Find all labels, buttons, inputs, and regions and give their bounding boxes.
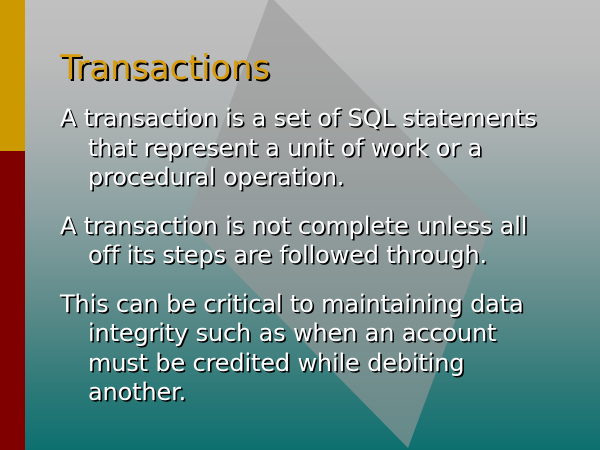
body-paragraph: A transaction is not complete unless all…: [60, 212, 550, 271]
slide-canvas: Transactions A transaction is a set of S…: [0, 0, 600, 450]
left-accent-bar-gold: [0, 0, 25, 151]
left-accent-bar-red: [0, 151, 25, 450]
slide-content: Transactions A transaction is a set of S…: [60, 0, 560, 450]
body-paragraph: A transaction is a set of SQL statements…: [60, 104, 550, 193]
body-paragraph: This can be critical to maintaining data…: [60, 290, 550, 408]
slide-body: A transaction is a set of SQL statements…: [60, 104, 550, 408]
slide-title: Transactions: [60, 48, 270, 88]
